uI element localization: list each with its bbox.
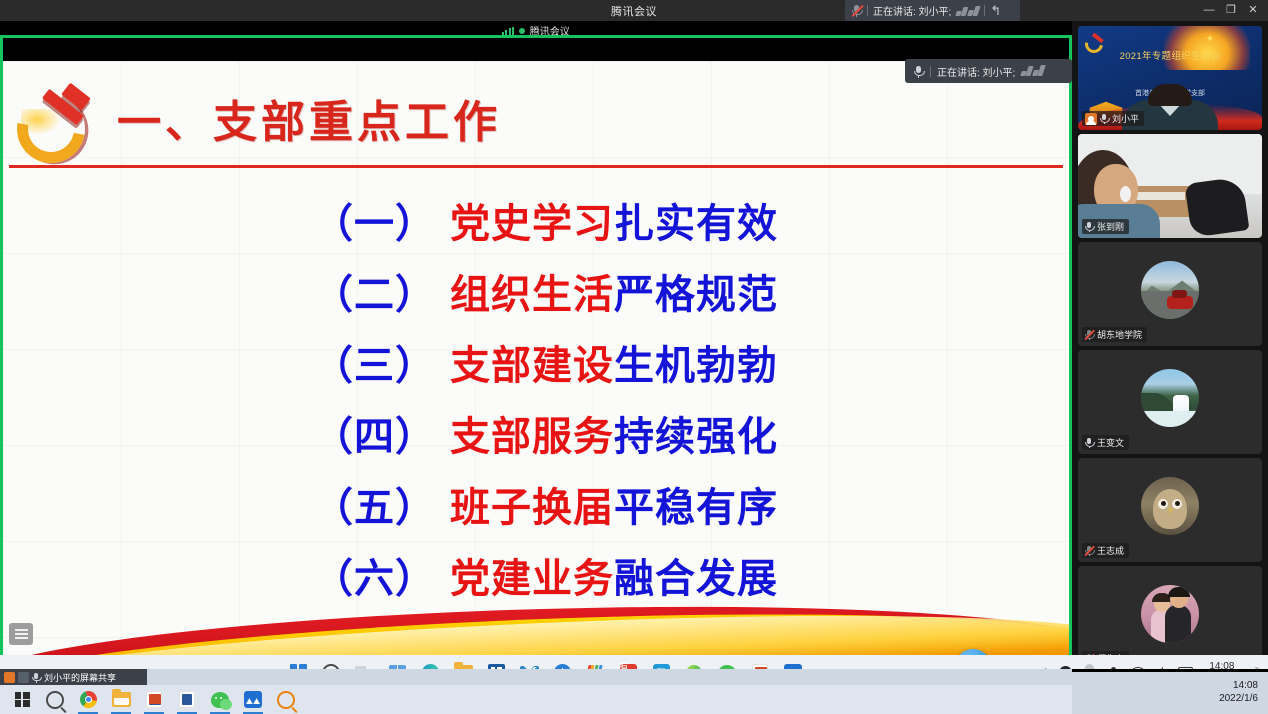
participant-name: 王变文 [1097,436,1124,449]
strip-divider [1072,669,1268,672]
minimize-button[interactable]: — [1198,0,1220,21]
window-title-bar: 腾讯会议 正在讲话: 刘小平; ↰ — ❐ ✕ [0,0,1268,21]
microphone-muted-icon[interactable] [1085,545,1094,556]
bullet-blue-text: 扎实有效 [614,191,778,249]
participant-name-bar: 张到刚 [1082,219,1129,234]
participant-name: 张到刚 [1097,220,1124,233]
party-emblem-icon [11,83,99,153]
bullet-number: （三） [313,333,436,391]
bullet-number: （五） [313,475,436,533]
remote-clock-time: 14:08 [1233,679,1258,692]
bullet-blue-text: 生机勃勃 [614,333,778,391]
powerpoint-icon[interactable] [144,690,164,710]
participant-tile-1[interactable]: ★ 2021年专题组织生活会 首港与油藏教工党支部 刘小平 [1078,26,1262,130]
speaker-video [1150,86,1190,130]
speaking-label: 正在讲话: 刘小平; [873,3,951,18]
participant-tile-2[interactable]: 张到刚 [1078,134,1262,238]
slide-bullet-3: （三） 支部建设 生机勃勃 [3,333,1069,404]
bullet-number: （二） [313,262,436,320]
participant-avatar [1141,369,1199,427]
return-arrow-icon[interactable]: ↰ [990,4,1001,17]
virtual-bg-title: 2021年专题组织生活会 [1078,48,1262,62]
slide-bullet-1: （一） 党史学习 扎实有效 [3,191,1069,262]
divider [930,66,931,77]
screen-share-notice[interactable]: 刘小平的屏幕共享 [0,669,147,685]
bullet-number: （四） [313,404,436,462]
start-icon[interactable] [12,690,32,710]
slide-title: 一、支部重点工作 [117,86,501,150]
green-status-dot [519,28,525,34]
participant-name-bar: 王变文 [1082,435,1129,450]
bullet-blue-text: 融合发展 [614,546,778,604]
bullet-red-text: 班子换届 [450,475,614,533]
bullet-number: （六） [313,546,436,604]
divider [867,5,868,16]
participant-name-bar: 刘小平 [1082,111,1144,126]
slide-bullet-list: （一） 党史学习 扎实有效 （二） 组织生活 严格规范 （三） 支部建设 生机勃… [3,191,1069,617]
bullet-red-text: 组织生活 [450,262,614,320]
divider [984,5,985,16]
participant-tile-3[interactable]: 胡东地学院 [1078,242,1262,346]
bullet-red-text: 支部服务 [450,404,614,462]
chrome-icon[interactable] [78,690,98,710]
participant-avatar [1141,585,1199,643]
participant-name: 胡东地学院 [1097,328,1142,341]
bullet-blue-text: 严格规范 [614,262,778,320]
participant-filmstrip[interactable]: ★ 2021年专题组织生活会 首港与油藏教工党支部 刘小平 [1072,21,1268,690]
share-app-label: 腾讯会议 [530,23,570,38]
participant-name: 王志成 [1097,544,1124,557]
speaking-indicator-overlay[interactable]: 正在讲话: 刘小平; [905,59,1072,83]
tencent-meeting-icon[interactable] [243,690,263,710]
file-explorer-icon[interactable] [111,690,131,710]
microphone-muted-icon[interactable] [1085,329,1094,340]
remote-clock[interactable]: 14:08 2022/1/6 [1072,669,1268,714]
microphone-icon[interactable] [913,65,924,78]
window-controls[interactable]: — ❐ ✕ [1198,0,1264,21]
screen-share-icon[interactable] [18,672,29,683]
share-status-header: 腾讯会议 [0,21,1072,40]
user-badge-icon [4,672,15,683]
bullet-red-text: 支部建设 [450,333,614,391]
slide-bullet-2: （二） 组织生活 严格规范 [3,262,1069,333]
title-underline [9,165,1063,168]
slide-bullet-4: （四） 支部服务 持续强化 [3,404,1069,475]
participant-name-bar: 胡东地学院 [1082,327,1147,342]
shared-screen-area: 腾讯会议 一、支部重点工作 （一） 党史学习 扎实有效 （二） 组织生活 [0,21,1072,669]
maximize-button[interactable]: ❐ [1220,0,1242,21]
microphone-icon[interactable] [1085,221,1094,232]
slide-bullet-5: （五） 班子换届 平稳有序 [3,475,1069,546]
search-icon[interactable] [45,690,65,710]
speaking-indicator-top[interactable]: 正在讲话: 刘小平; ↰ [845,0,1020,21]
bullet-blue-text: 平稳有序 [614,475,778,533]
microphone-icon[interactable] [32,672,41,683]
participant-avatar [1141,477,1199,535]
wechat-icon[interactable] [210,690,230,710]
share-notice-label: 刘小平的屏幕共享 [44,671,116,684]
microphone-icon[interactable] [1085,437,1094,448]
sound-wave-icon [956,6,979,16]
slideshow-menu-icon[interactable] [9,623,33,645]
app-title: 腾讯会议 [611,3,657,19]
presentation-slide[interactable]: 一、支部重点工作 （一） 党史学习 扎实有效 （二） 组织生活 严格规范 （三）… [3,61,1069,667]
microphone-muted-icon[interactable] [851,4,862,17]
search-orange-icon[interactable] [276,690,296,710]
participant-tile-5[interactable]: 王志成 [1078,458,1262,562]
host-badge-icon [1085,113,1097,125]
participant-tile-4[interactable]: 王变文 [1078,350,1262,454]
speaking-label: 正在讲话: 刘小平; [937,64,1015,79]
signal-bars-icon [502,27,514,35]
participant-avatar [1141,261,1199,319]
bullet-blue-text: 持续强化 [614,404,778,462]
close-button[interactable]: ✕ [1242,0,1264,21]
bullet-number: （一） [313,191,436,249]
remote-desktop-strip: 刘小平的屏幕共享 [0,669,1072,714]
sound-wave-icon [1021,66,1044,76]
participant-name-bar: 王志成 [1082,543,1129,558]
bullet-red-text: 党建业务 [450,546,614,604]
remote-taskbar[interactable] [0,685,1072,714]
remote-clock-date: 2022/1/6 [1219,692,1258,705]
bullet-red-text: 党史学习 [450,191,614,249]
participant-name: 刘小平 [1112,112,1139,125]
slide-title-row: 一、支部重点工作 [3,77,1069,159]
microphone-icon[interactable] [1100,113,1109,124]
word-icon[interactable] [177,690,197,710]
